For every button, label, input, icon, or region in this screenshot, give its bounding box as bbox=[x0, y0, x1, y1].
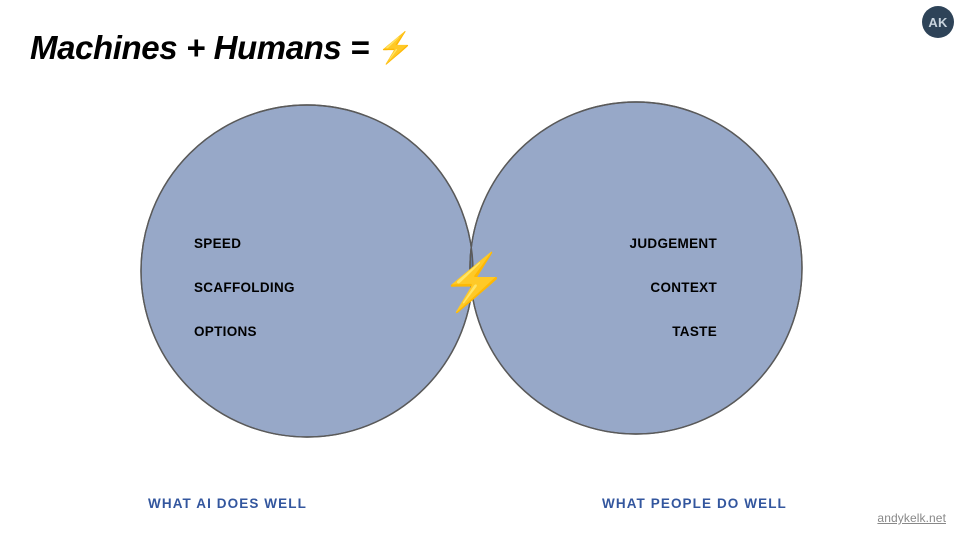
slide-canvas: Machines + Humans = ⚡ AK SPEED SCAFFOLDI… bbox=[0, 0, 960, 540]
list-item: JUDGEMENT bbox=[630, 222, 717, 266]
lightning-bolt-icon-center: ⚡ bbox=[440, 249, 506, 315]
caption-people: WHAT PEOPLE DO WELL bbox=[602, 496, 787, 511]
ai-strengths-list: SPEED SCAFFOLDING OPTIONS bbox=[194, 222, 295, 354]
venn-circle-left bbox=[141, 105, 473, 437]
human-strengths-list: JUDGEMENT CONTEXT TASTE bbox=[630, 222, 717, 354]
list-item: SPEED bbox=[194, 222, 295, 266]
lightning-bolt-icon: ⚡ bbox=[377, 34, 414, 64]
avatar-initials: AK bbox=[928, 15, 947, 30]
list-item: TASTE bbox=[630, 310, 717, 354]
caption-ai: WHAT AI DOES WELL bbox=[148, 496, 307, 511]
page-title: Machines + Humans = ⚡ bbox=[30, 29, 414, 67]
page-title-text: Machines + Humans = bbox=[30, 29, 369, 67]
site-link[interactable]: andykelk.net bbox=[877, 511, 946, 525]
list-item: SCAFFOLDING bbox=[194, 266, 295, 310]
avatar[interactable]: AK bbox=[922, 6, 954, 38]
list-item: OPTIONS bbox=[194, 310, 295, 354]
list-item: CONTEXT bbox=[630, 266, 717, 310]
